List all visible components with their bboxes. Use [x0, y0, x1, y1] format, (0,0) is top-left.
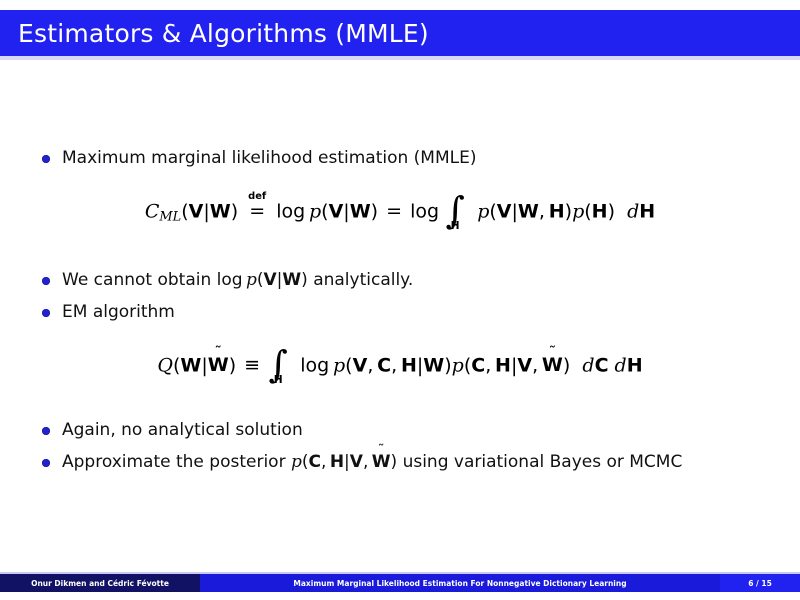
def-equals-icon: def=: [244, 200, 270, 222]
bullet-label: EM algorithm: [62, 302, 175, 323]
page-title: Estimators & Algorithms (MMLE): [18, 21, 429, 46]
list-item: We cannot obtain log p(V|W) analytically…: [42, 270, 413, 291]
bullet-dot-icon: [42, 427, 50, 435]
list-item: Approximate the posterior p(C, H|V, ˜W) …: [42, 452, 682, 473]
slide-footer: Onur Dikmen and Cédric Févotte Maximum M…: [0, 574, 800, 592]
bullet-dot-icon: [42, 277, 50, 285]
bullet-label: Maximum marginal likelihood estimation (…: [62, 148, 477, 169]
bullet-dot-icon: [42, 155, 50, 163]
footer-page-number: 6 / 15: [720, 574, 800, 592]
bullet-dot-icon: [42, 459, 50, 467]
bullet-label: Again, no analytical solution: [62, 420, 303, 441]
bullet-label: We cannot obtain log p(V|W) analytically…: [62, 270, 413, 291]
list-item: Again, no analytical solution: [42, 420, 303, 441]
bullet-dot-icon: [42, 309, 50, 317]
slide-content: Maximum marginal likelihood estimation (…: [0, 120, 800, 550]
list-item: EM algorithm: [42, 302, 175, 323]
title-underline-rule: [0, 56, 800, 60]
footer-talk-title: Maximum Marginal Likelihood Estimation F…: [200, 574, 720, 592]
slide-title-bar: Estimators & Algorithms (MMLE): [0, 10, 800, 56]
equation-q: Q(W|˜W) ≡ ∫H log p(V, C, H|W)p(C, H|V, ˜…: [0, 352, 800, 378]
integral-icon: ∫H: [445, 198, 465, 224]
list-item: Maximum marginal likelihood estimation (…: [42, 148, 477, 169]
bullet-label: Approximate the posterior p(C, H|V, ˜W) …: [62, 452, 682, 473]
tilde-w: ˜W: [542, 354, 563, 376]
equation-cml: CML(V|W) def= log p(V|W) = log ∫H p(V|W,…: [0, 198, 800, 225]
tilde-w: ˜W: [208, 354, 229, 376]
footer-authors: Onur Dikmen and Cédric Févotte: [0, 574, 200, 592]
integral-icon: ∫H: [268, 352, 288, 378]
